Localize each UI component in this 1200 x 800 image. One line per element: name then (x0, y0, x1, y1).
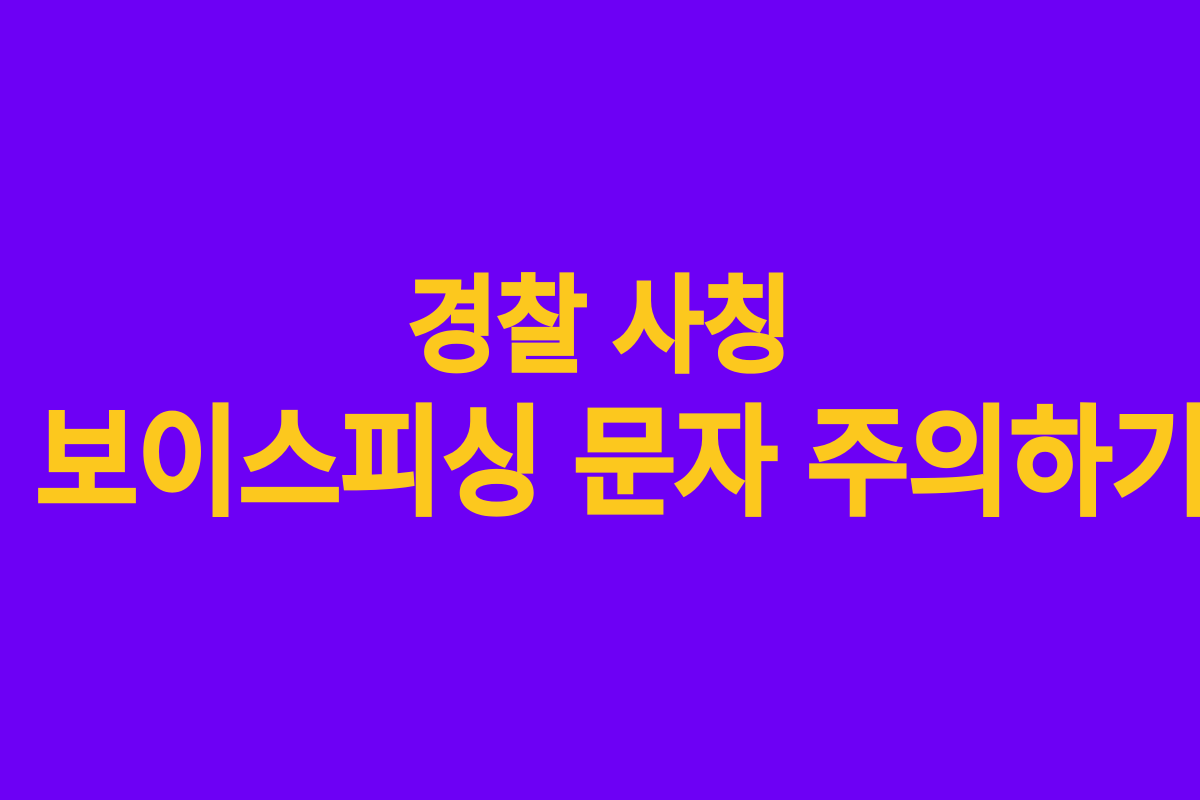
headline-line-2: 보이스피싱 문자 주의하기 (36, 405, 1164, 523)
headline-line-1: 경찰 사칭 (36, 275, 1164, 379)
headline-block: 경찰 사칭 보이스피싱 문자 주의하기 (0, 275, 1200, 523)
voice-phishing-warning-banner: 경찰 사칭 보이스피싱 문자 주의하기 (0, 0, 1200, 800)
